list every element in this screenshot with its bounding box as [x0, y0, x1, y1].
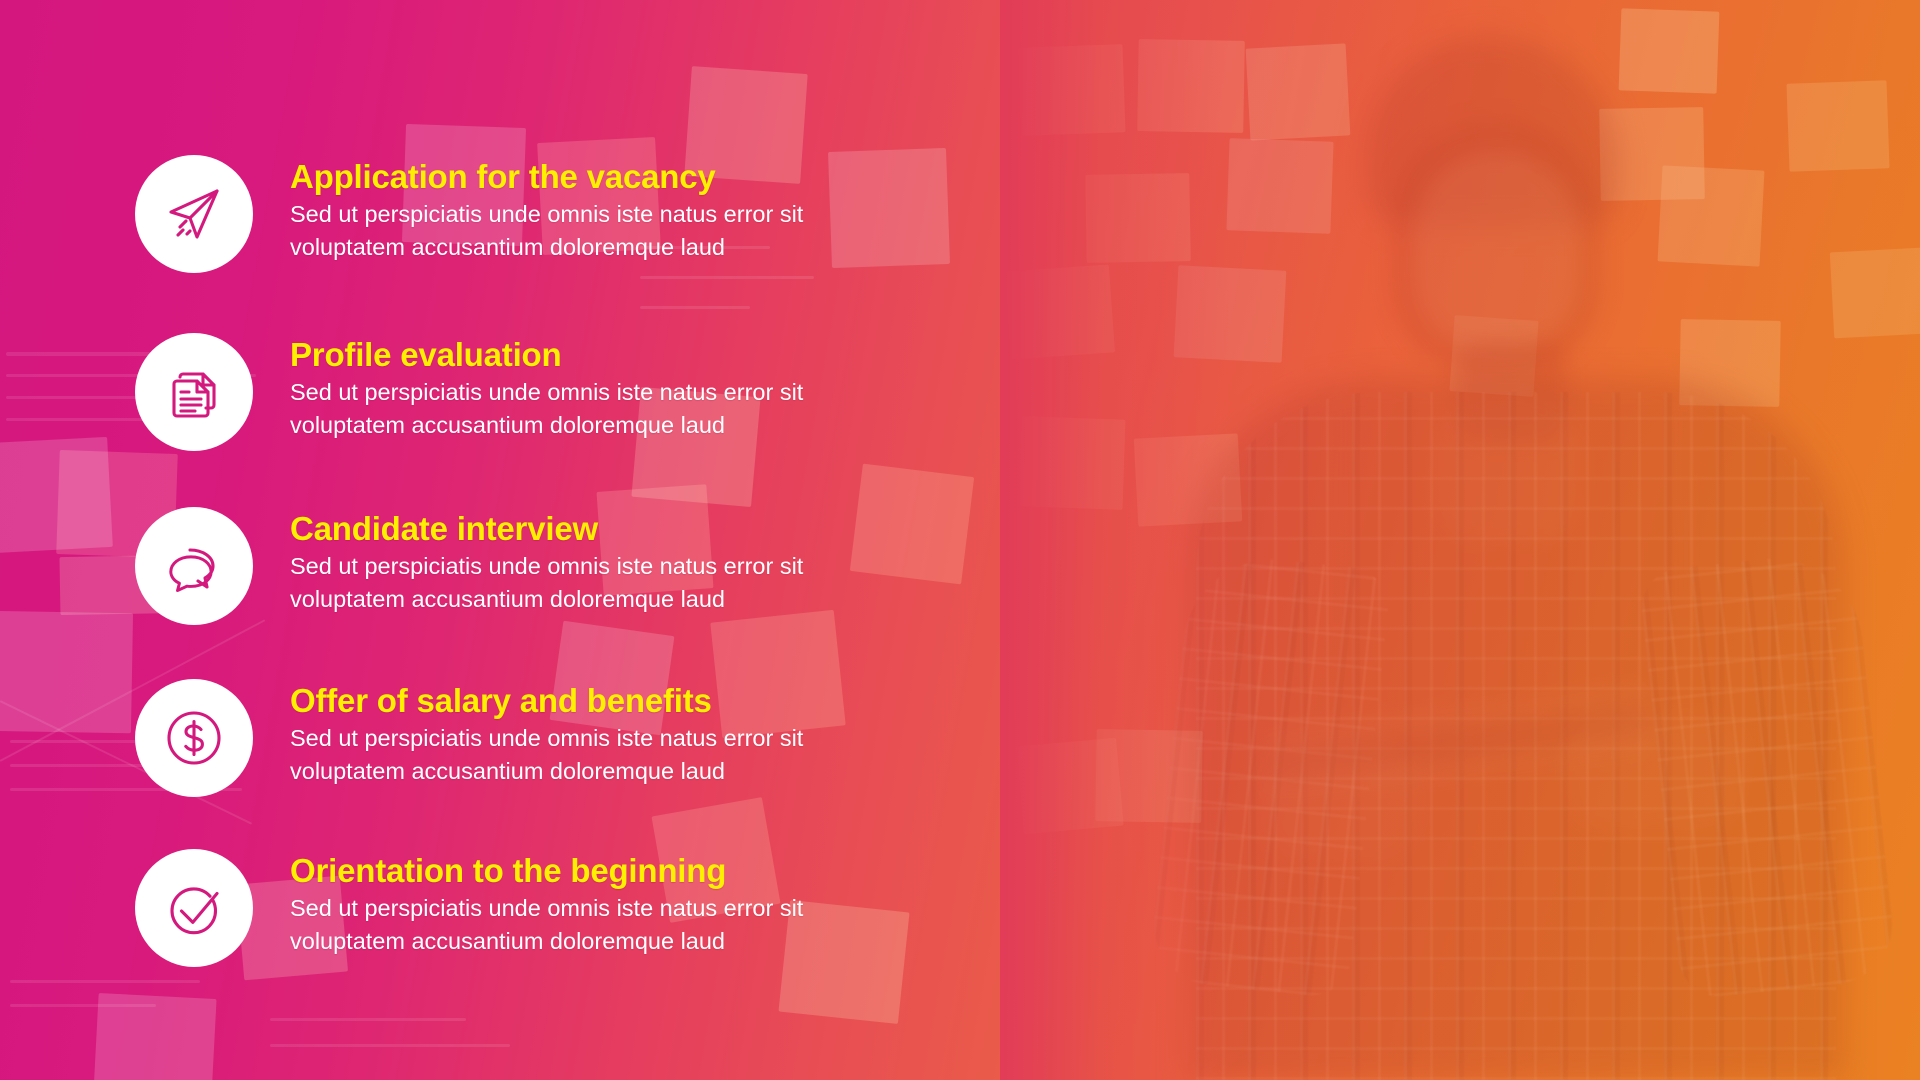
step-description-line-1: Sed ut perspiciatis unde omnis iste natu…	[290, 198, 803, 231]
process-step[interactable]: Application for the vacancy Sed ut persp…	[135, 155, 803, 273]
step-description-line-1: Sed ut perspiciatis unde omnis iste natu…	[290, 376, 803, 409]
step-title: Candidate interview	[290, 511, 803, 547]
process-step[interactable]: Offer of salary and benefits Sed ut pers…	[135, 679, 803, 797]
check-circle-icon	[135, 849, 253, 967]
paper-plane-icon	[135, 155, 253, 273]
step-title: Profile evaluation	[290, 337, 803, 373]
step-description-line-2: voluptatem accusantium doloremque laud	[290, 409, 803, 442]
process-step[interactable]: Orientation to the beginning Sed ut pers…	[135, 849, 803, 967]
step-text-block: Offer of salary and benefits Sed ut pers…	[290, 679, 803, 788]
step-title: Offer of salary and benefits	[290, 683, 803, 719]
step-title: Application for the vacancy	[290, 159, 803, 195]
step-text-block: Profile evaluation Sed ut perspiciatis u…	[290, 333, 803, 442]
documents-icon	[135, 333, 253, 451]
step-description-line-1: Sed ut perspiciatis unde omnis iste natu…	[290, 550, 803, 583]
speech-bubbles-icon	[135, 507, 253, 625]
step-description-line-1: Sed ut perspiciatis unde omnis iste natu…	[290, 892, 803, 925]
step-description-line-2: voluptatem accusantium doloremque laud	[290, 231, 803, 264]
step-description-line-2: voluptatem accusantium doloremque laud	[290, 755, 803, 788]
step-description-line-1: Sed ut perspiciatis unde omnis iste natu…	[290, 722, 803, 755]
step-text-block: Candidate interview Sed ut perspiciatis …	[290, 507, 803, 616]
process-step[interactable]: Candidate interview Sed ut perspiciatis …	[135, 507, 803, 625]
step-description-line-2: voluptatem accusantium doloremque laud	[290, 583, 803, 616]
step-text-block: Orientation to the beginning Sed ut pers…	[290, 849, 803, 958]
step-text-block: Application for the vacancy Sed ut persp…	[290, 155, 803, 264]
step-title: Orientation to the beginning	[290, 853, 803, 889]
slide-canvas: Application for the vacancy Sed ut persp…	[0, 0, 1920, 1080]
step-description-line-2: voluptatem accusantium doloremque laud	[290, 925, 803, 958]
process-step[interactable]: Profile evaluation Sed ut perspiciatis u…	[135, 333, 803, 451]
man-with-tablet-duotone-photo	[1000, 0, 1920, 1080]
process-step-list: Application for the vacancy Sed ut persp…	[0, 0, 1000, 1080]
dollar-coin-icon	[135, 679, 253, 797]
